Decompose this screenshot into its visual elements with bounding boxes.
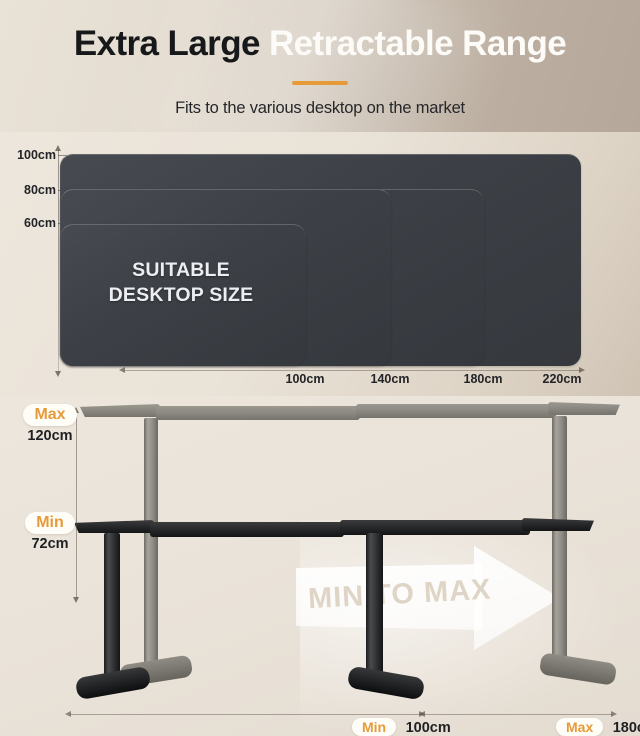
max-height-value: 120cm xyxy=(12,428,88,444)
min-frame-leg-right xyxy=(366,533,383,683)
max-width-axis xyxy=(424,714,612,715)
page-subtitle: Fits to the various desktop on the marke… xyxy=(0,99,640,118)
plate-caption-line2: DESKTOP SIZE xyxy=(109,284,254,306)
max-frame-top-right-beam xyxy=(356,404,556,418)
plate-caption-line1: SUITABLE xyxy=(132,259,230,281)
max-height-pill: Max xyxy=(23,404,76,426)
title-part-primary: Extra Large xyxy=(74,24,260,63)
max-frame-top-left-beam xyxy=(156,406,360,420)
min-to-max-arrow: MIN TO MAX xyxy=(296,546,556,650)
depth-axis-line xyxy=(58,150,59,372)
min-height-value: 72cm xyxy=(12,536,88,552)
page-title: Extra Large Retractable Range xyxy=(0,26,640,61)
width-tick-100: 100cm xyxy=(270,372,340,386)
max-frame-leg-right xyxy=(552,416,567,666)
max-width-value: 180cm xyxy=(613,720,640,736)
title-accent-rule xyxy=(292,81,348,85)
min-height-pill: Min xyxy=(25,512,75,534)
width-tick-140: 140cm xyxy=(355,372,425,386)
max-width-pill: Max xyxy=(556,718,603,736)
width-tick-180: 180cm xyxy=(448,372,518,386)
min-height-badge: Min 72cm xyxy=(12,512,88,552)
min-frame-leg-left xyxy=(104,533,120,681)
min-width-axis xyxy=(70,714,420,715)
width-axis-line xyxy=(124,370,580,371)
plate-caption: SUITABLE DESKTOP SIZE xyxy=(62,258,300,308)
infographic-canvas: Extra Large Retractable Range Fits to th… xyxy=(0,0,640,736)
min-width-value: 100cm xyxy=(406,720,451,736)
width-tick-220: 220cm xyxy=(527,372,597,386)
max-width-badge: Max 180cm xyxy=(556,718,640,736)
depth-tick-80: 80cm xyxy=(0,183,56,197)
min-frame-top-left-beam xyxy=(150,522,344,537)
max-frame-leg-left xyxy=(144,418,158,668)
min-width-badge: Min 100cm xyxy=(352,718,451,736)
title-part-secondary: Retractable Range xyxy=(269,24,566,63)
depth-tick-60: 60cm xyxy=(0,216,56,230)
depth-tick-100: 100cm xyxy=(0,148,56,162)
max-height-badge: Max 120cm xyxy=(12,404,88,444)
min-width-pill: Min xyxy=(352,718,396,736)
